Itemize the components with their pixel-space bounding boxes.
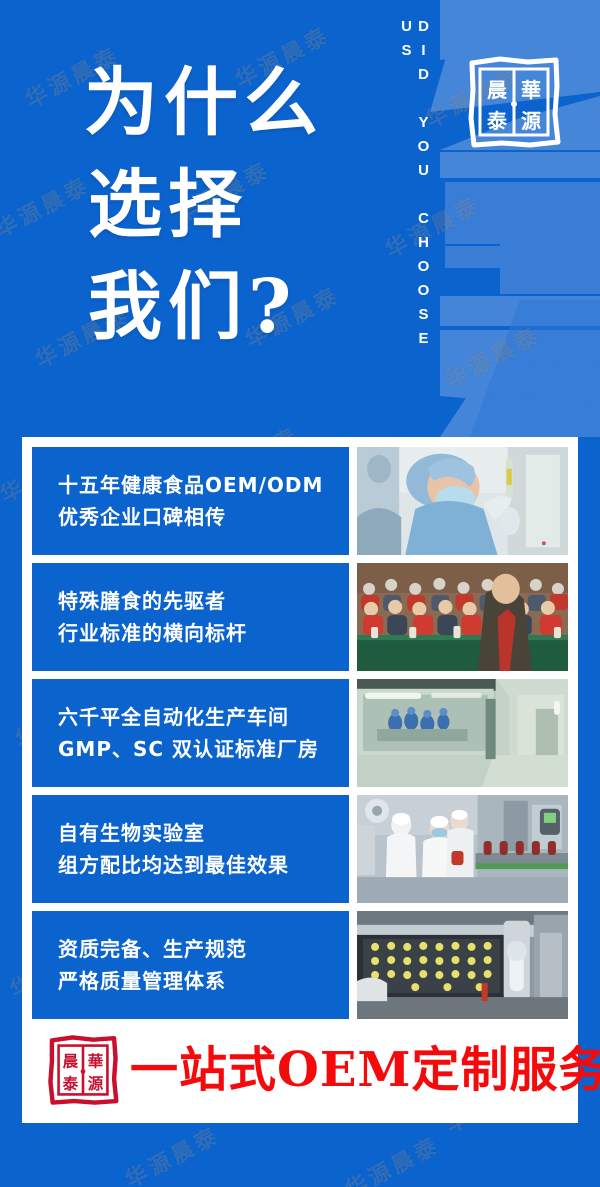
feature-line: 十五年健康食品OEM/ODM: [58, 469, 349, 501]
feature-line: 行业标准的横向标杆: [58, 617, 349, 649]
svg-text:泰: 泰: [486, 109, 508, 133]
svg-text:晨: 晨: [487, 78, 508, 102]
poster-header: 为什么 选择 我们? DID YOU CHOOSE US 晨 華 泰: [0, 0, 600, 437]
brand-seal-red-icon: 晨 華 泰 源: [46, 1033, 120, 1107]
svg-text:源: 源: [521, 109, 541, 133]
feature-line: 优秀企业口碑相传: [58, 501, 349, 533]
feature-card-text: 特殊膳食的先驱者 行业标准的横向标杆: [32, 563, 349, 671]
feature-card: 特殊膳食的先驱者 行业标准的横向标杆: [32, 563, 568, 671]
feature-card: 六千平全自动化生产车间 GMP、SC 双认证标准厂房: [32, 679, 568, 787]
svg-text:華: 華: [521, 78, 541, 102]
watermark-text: 华源晨泰: [119, 1117, 226, 1187]
feature-line: 资质完备、生产规范: [58, 933, 349, 965]
feature-line: 六千平全自动化生产车间: [58, 701, 349, 733]
title-line-1: 为什么: [84, 52, 324, 154]
feature-card-text: 自有生物实验室 组方配比均达到最佳效果: [32, 795, 349, 903]
brand-seal-white-icon: 晨 華 泰 源: [464, 52, 564, 152]
feature-line: 组方配比均达到最佳效果: [58, 849, 349, 881]
feature-card: 十五年健康食品OEM/ODM 优秀企业口碑相传: [32, 447, 568, 555]
feature-card: 自有生物实验室 组方配比均达到最佳效果: [32, 795, 568, 903]
vertical-english-text: DID YOU CHOOSE US: [398, 18, 432, 418]
feature-line: 自有生物实验室: [58, 817, 349, 849]
bottom-banner: 晨 華 泰 源 一站式OEM定制服务: [32, 1027, 568, 1113]
feature-line: 特殊膳食的先驱者: [58, 585, 349, 617]
watermark-text: 华源晨泰: [339, 1127, 446, 1187]
feature-card-text: 六千平全自动化生产车间 GMP、SC 双认证标准厂房: [32, 679, 349, 787]
feature-photo-tablet-press: [357, 911, 568, 1019]
banner-slogan: 一站式OEM定制服务: [130, 1046, 600, 1094]
feature-card-text: 十五年健康食品OEM/ODM 优秀企业口碑相传: [32, 447, 349, 555]
feature-photo-lab-technician: [357, 447, 568, 555]
feature-photo-cleanroom: [357, 679, 568, 787]
svg-text:泰: 泰: [62, 1074, 79, 1093]
feature-line: 严格质量管理体系: [58, 965, 349, 997]
feature-card-text: 资质完备、生产规范 严格质量管理体系: [32, 911, 349, 1019]
svg-text:華: 華: [88, 1051, 104, 1070]
feature-line: GMP、SC 双认证标准厂房: [58, 733, 349, 765]
vertical-english-caption: DID YOU CHOOSE US: [398, 18, 432, 418]
feature-photo-production-line: [357, 795, 568, 903]
feature-photo-conference: [357, 563, 568, 671]
title-line-3: 我们?: [84, 256, 324, 358]
page-title: 为什么 选择 我们?: [84, 52, 324, 358]
feature-card: 资质完备、生产规范 严格质量管理体系: [32, 911, 568, 1019]
svg-text:晨: 晨: [63, 1051, 79, 1070]
title-line-2: 选择: [84, 154, 324, 256]
svg-text:源: 源: [88, 1074, 104, 1093]
poster-root: 华源晨泰 华源晨泰 华源晨泰 华源晨泰 华源晨泰 华源晨泰 华源晨泰 华源晨泰 …: [0, 0, 600, 1187]
features-panel: 十五年健康食品OEM/ODM 优秀企业口碑相传: [22, 437, 578, 1123]
